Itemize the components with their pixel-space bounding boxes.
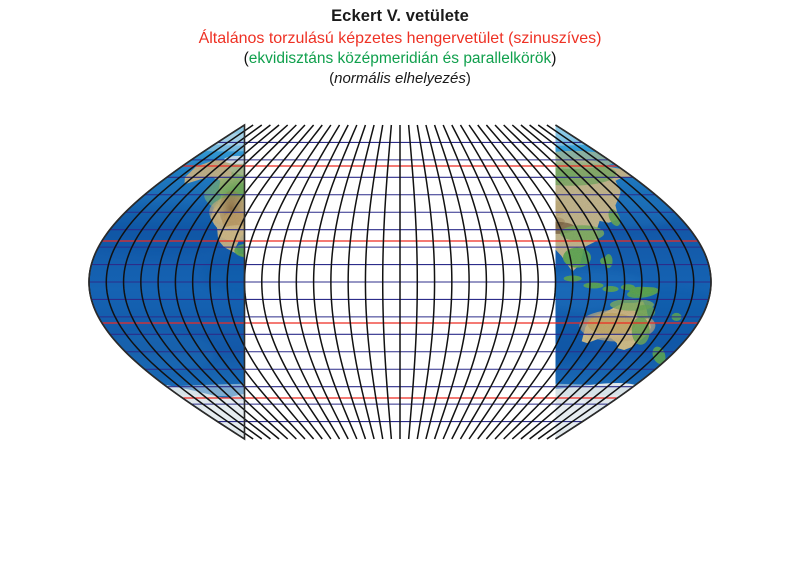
- subtitle-aspect: (normális elhelyezés): [0, 69, 800, 89]
- subtitle-aspect-text: normális elhelyezés: [334, 70, 466, 87]
- title-block: Eckert V. vetülete Általános torzulású k…: [0, 6, 800, 89]
- subtitle-properties-text: ekvidisztáns középmeridián és parallelkö…: [249, 50, 551, 67]
- subtitle-distortion-type: Általános torzulású képzetes hengervetül…: [0, 28, 800, 49]
- eckert-v-projection-map: [80, 118, 720, 448]
- map-figure: [80, 118, 720, 448]
- paren-close-2: ): [466, 70, 471, 87]
- page-title: Eckert V. vetülete: [0, 6, 800, 28]
- subtitle-properties: (ekvidisztáns középmeridián és parallelk…: [0, 49, 800, 69]
- paren-close: ): [551, 50, 556, 67]
